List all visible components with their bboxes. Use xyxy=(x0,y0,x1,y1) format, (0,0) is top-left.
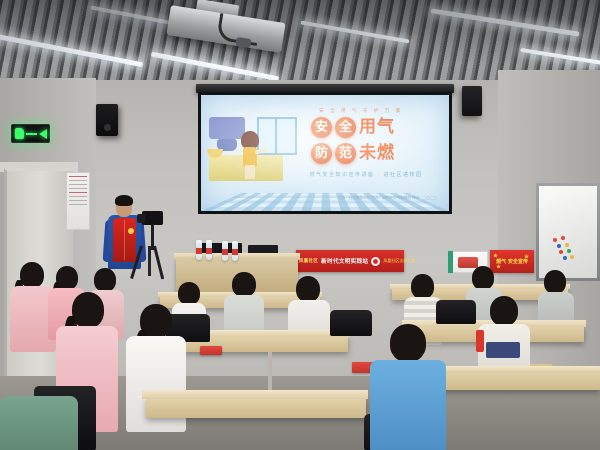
award-banner: 燃气 安全宣传 xyxy=(490,250,534,273)
running-man-icon xyxy=(15,128,24,139)
classroom-photo: 安 全 用 气 守 护 万 家 安 全 用气 防 范 未燃 燃气安全知识宣传讲座… xyxy=(0,0,600,450)
tee-red-stripe xyxy=(476,330,484,352)
magnet-icon xyxy=(559,250,563,254)
wall-notice-poster xyxy=(66,172,90,230)
community-banner-subtitle: 新时代文明实践站 xyxy=(321,257,368,265)
whiteboard[interactable] xyxy=(539,186,597,278)
ceiling-light xyxy=(520,48,600,66)
magnet-icon xyxy=(557,244,561,248)
video-camera xyxy=(142,211,163,225)
water-bottle xyxy=(206,240,212,260)
photo-board-image xyxy=(458,257,478,268)
projection-screen: 安 全 用 气 守 护 万 家 安 全 用气 防 范 未燃 燃气安全知识宣传讲座… xyxy=(201,95,449,211)
water-bottle xyxy=(222,241,228,261)
camera-lens-icon xyxy=(137,214,145,223)
water-bottle xyxy=(232,241,238,261)
wall-speaker-right xyxy=(462,86,482,116)
community-banner-title: 凤凰社区 xyxy=(299,258,318,264)
community-banner-tag: 凤凰社区志愿工委 xyxy=(383,258,415,264)
ceiling-light xyxy=(431,8,580,36)
ceiling-light xyxy=(90,5,179,26)
water-bottle xyxy=(196,240,202,260)
ceiling-light xyxy=(0,34,143,68)
red-booklet[interactable] xyxy=(200,346,222,355)
chair[interactable] xyxy=(330,310,372,336)
photo-board-strip xyxy=(448,251,453,273)
tripod-stem xyxy=(151,224,154,250)
magnet-icon xyxy=(553,238,557,242)
ceiling-light xyxy=(151,52,280,82)
magnet-icon xyxy=(567,249,571,253)
ceiling-light xyxy=(300,20,409,43)
volunteer-badge-icon xyxy=(128,228,134,234)
vest-zipper xyxy=(124,220,125,260)
star-icon xyxy=(496,264,501,269)
magnet-icon xyxy=(563,256,567,260)
presenter-hair xyxy=(115,195,133,206)
star-icon xyxy=(493,253,498,258)
tee-graphic xyxy=(486,342,520,358)
arrow-right-icon xyxy=(39,129,47,139)
magnet-icon xyxy=(565,243,569,247)
community-banner: 凤凰社区 新时代文明实践站 凤凰社区志愿工委 xyxy=(296,250,404,272)
wall-speaker-left xyxy=(96,104,118,136)
desk xyxy=(420,372,600,390)
award-banner-text: 燃气 安全宣传 xyxy=(496,259,528,265)
magnet-icon xyxy=(561,236,565,240)
community-logo-icon xyxy=(371,257,380,266)
tripod-leg xyxy=(148,246,151,276)
desk-edge xyxy=(142,390,368,399)
screen-glare xyxy=(201,95,449,211)
exit-door-icon xyxy=(26,133,37,135)
chair[interactable] xyxy=(436,300,476,324)
emergency-exit-sign xyxy=(11,124,50,143)
magnet-icon xyxy=(570,255,574,259)
speaker-cone-icon xyxy=(104,124,111,131)
desk xyxy=(146,398,366,418)
